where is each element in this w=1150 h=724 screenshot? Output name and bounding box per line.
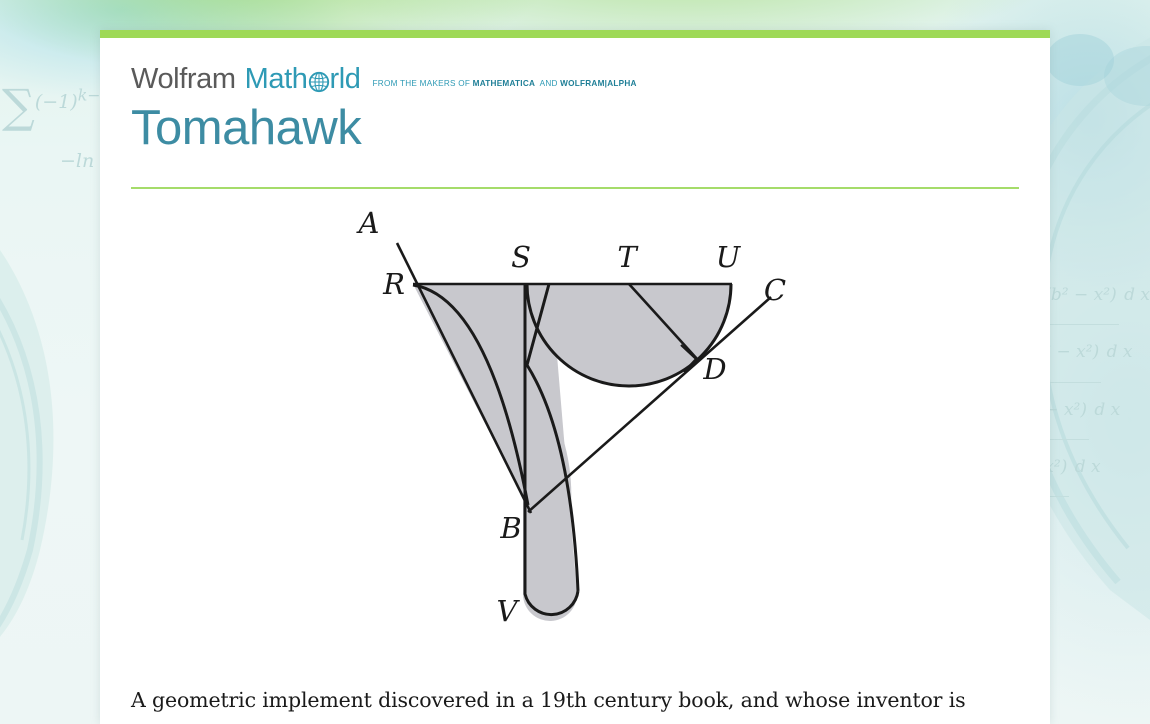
tagline-bold-wolframalpha: WOLFRAM|ALPHA xyxy=(560,79,637,88)
figure-label-D: D xyxy=(702,352,726,386)
figure-label-U: U xyxy=(716,240,742,274)
figure-label-S: S xyxy=(511,240,531,274)
globe-icon xyxy=(308,70,330,92)
figure-label-A: A xyxy=(356,206,380,240)
tagline-prefix-1: FROM THE MAKERS OF xyxy=(373,79,473,88)
site-logo[interactable]: Wolfram Math rld FROM THE MAKERS OF M xyxy=(131,38,1019,94)
figure-label-C: C xyxy=(764,273,786,307)
card-top-accent-bar xyxy=(100,30,1050,38)
figure-label-V: V xyxy=(497,594,521,628)
figure-label-B: B xyxy=(499,511,521,545)
content-card: Wolfram Math rld FROM THE MAKERS OF M xyxy=(100,30,1050,724)
tagline-line-2: AND WOLFRAM|ALPHA xyxy=(540,79,637,88)
figure-container: A S T U R C D B V xyxy=(131,195,1019,655)
tagline-prefix-2: AND xyxy=(540,79,561,88)
page-title: Tomahawk xyxy=(131,103,1019,154)
card-inner: Wolfram Math rld FROM THE MAKERS OF M xyxy=(100,38,1050,724)
logo-wolfram-text: Wolfram xyxy=(131,65,236,94)
logo-math-text: Math xyxy=(245,65,308,94)
logo-rld-text: rld xyxy=(330,65,361,94)
tomahawk-diagram: A S T U R C D B V xyxy=(245,195,905,655)
tagline-line-1: FROM THE MAKERS OF MATHEMATICA xyxy=(373,79,536,88)
logo-mathworld-text: Math rld xyxy=(245,65,361,94)
article-body: A geometric implement discovered in a 19… xyxy=(131,681,1019,724)
figure-label-T: T xyxy=(617,240,639,274)
figure-label-R: R xyxy=(382,267,405,301)
body-line-1: A geometric implement discovered in a 19… xyxy=(131,688,965,712)
title-divider xyxy=(131,187,1019,189)
tagline-bold-mathematica: MATHEMATICA xyxy=(473,79,535,88)
logo-tagline: FROM THE MAKERS OF MATHEMATICA AND WOLFR… xyxy=(373,73,637,94)
